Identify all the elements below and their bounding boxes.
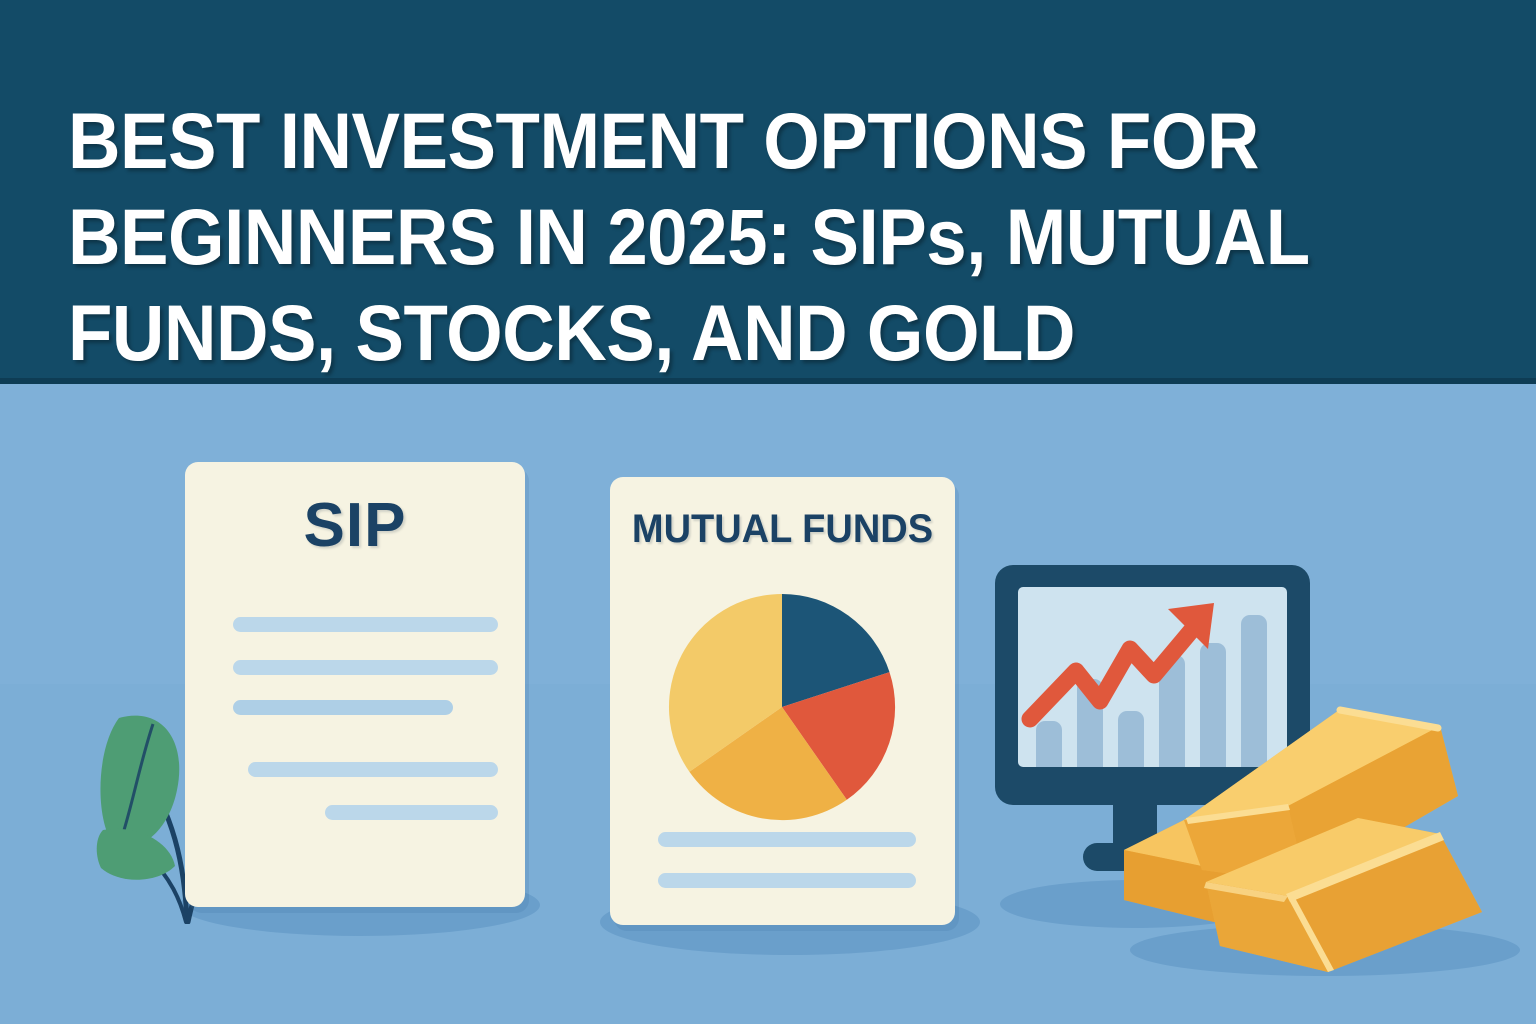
sip-card-title: SIP	[185, 490, 525, 561]
sip-text-line	[233, 617, 498, 632]
mutual-funds-card-title: MUTUAL FUNDS	[619, 507, 947, 552]
infographic-canvas: BEST INVESTMENT OPTIONS FOR BEGINNERS IN…	[0, 0, 1536, 1024]
sip-text-line	[233, 700, 453, 715]
mutual-funds-text-line	[658, 832, 916, 847]
mutual-funds-pie-chart	[666, 591, 898, 823]
sip-text-line	[233, 660, 498, 675]
sip-text-line	[248, 762, 498, 777]
plant-leaf-upper-left	[100, 716, 179, 848]
illustration-scene: SIP MUTUAL FUNDS	[0, 384, 1536, 1024]
plant-leaf-left-small	[97, 829, 175, 880]
mutual-funds-text-line	[658, 873, 916, 888]
sip-text-line	[325, 805, 498, 820]
gold-bars[interactable]	[1110, 684, 1536, 984]
header-banner: BEST INVESTMENT OPTIONS FOR BEGINNERS IN…	[0, 0, 1536, 378]
page-title: BEST INVESTMENT OPTIONS FOR BEGINNERS IN…	[68, 93, 1356, 381]
mutual-funds-card[interactable]: MUTUAL FUNDS	[610, 477, 955, 925]
sip-card[interactable]: SIP	[185, 462, 525, 907]
